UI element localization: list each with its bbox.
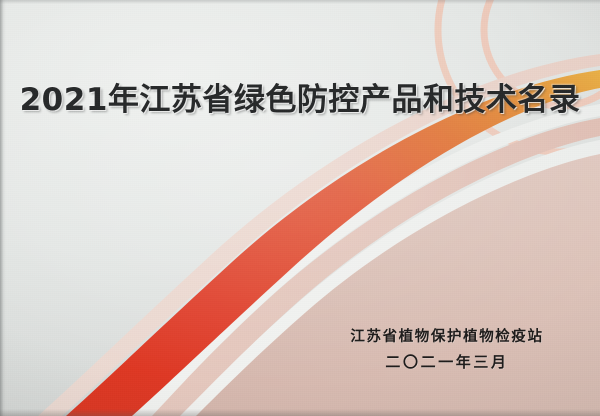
issuer-block: 江苏省植物保护植物检疫站 二〇二一年三月 bbox=[322, 325, 572, 372]
title-block: 2021年江苏省绿色防控产品和技术名录 bbox=[0, 74, 600, 119]
issuer-name: 江苏省植物保护植物检疫站 bbox=[322, 325, 572, 346]
page-title: 2021年江苏省绿色防控产品和技术名录 bbox=[20, 74, 581, 119]
document-cover-photo: 2021年江苏省绿色防控产品和技术名录 江苏省植物保护植物检疫站 二〇二一年三月 bbox=[0, 0, 600, 416]
issue-date: 二〇二一年三月 bbox=[322, 351, 572, 372]
photo-edge-left bbox=[0, 0, 6, 416]
photo-edge-top bbox=[0, 0, 600, 4]
photo-edge-bottom bbox=[0, 409, 600, 416]
